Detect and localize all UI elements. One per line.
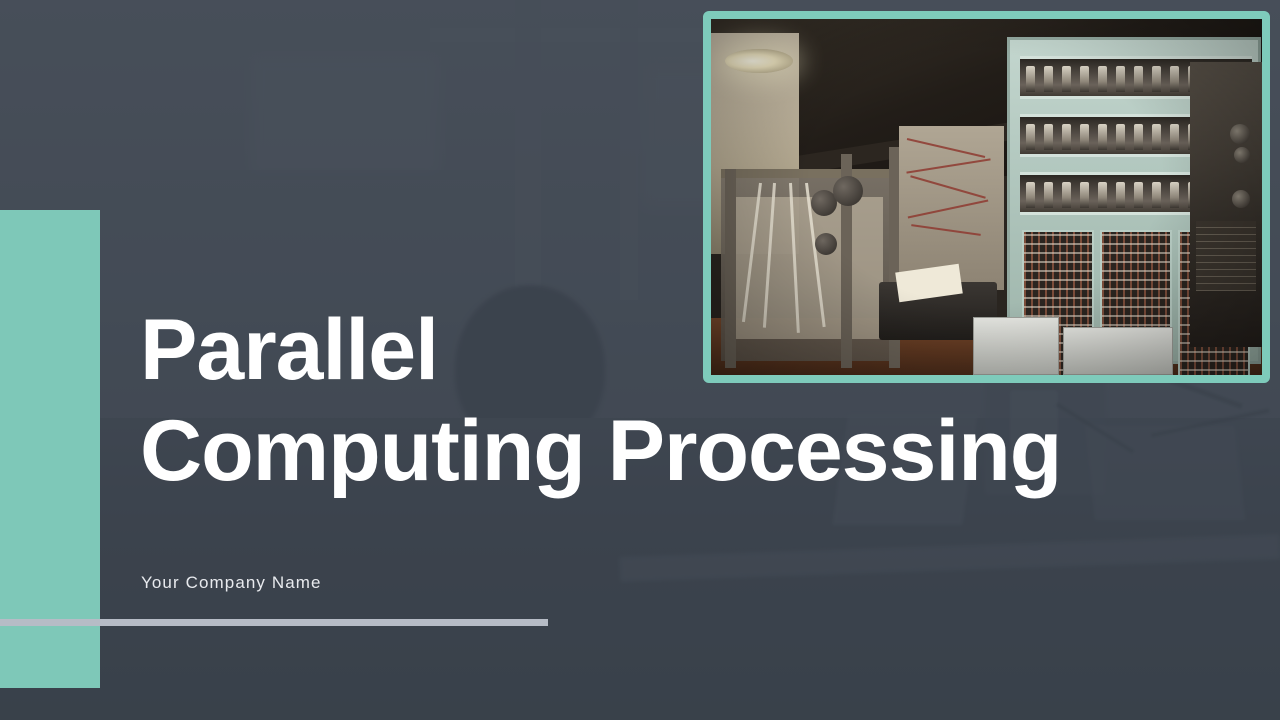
title-line-2: Computing Processing	[140, 401, 1120, 502]
horizontal-divider	[0, 619, 548, 626]
feature-image	[711, 19, 1262, 375]
left-accent-bar	[0, 210, 100, 688]
feature-image-frame	[703, 11, 1270, 383]
company-name-placeholder: Your Company Name	[141, 573, 322, 593]
photo-vignette	[711, 19, 1262, 375]
